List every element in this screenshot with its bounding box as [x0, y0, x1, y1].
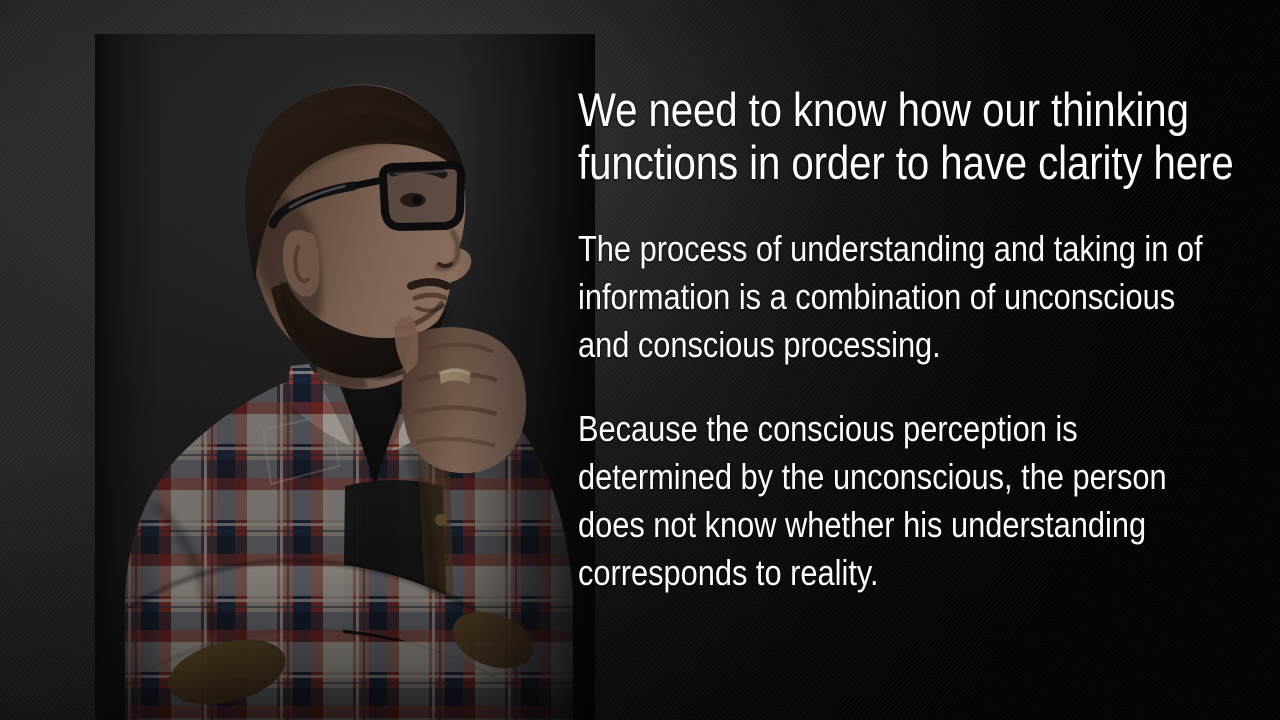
body-paragraph-2: Because the conscious perception is dete… [578, 405, 1245, 597]
slide-title: We need to know how our thinking functio… [578, 83, 1245, 189]
subject-photo [95, 34, 595, 720]
body-paragraph-1: The process of understanding and taking … [578, 225, 1245, 369]
presentation-slide: We need to know how our thinking functio… [0, 0, 1280, 720]
slide-body: The process of understanding and taking … [578, 225, 1246, 597]
slide-text-column: We need to know how our thinking functio… [578, 52, 1246, 633]
